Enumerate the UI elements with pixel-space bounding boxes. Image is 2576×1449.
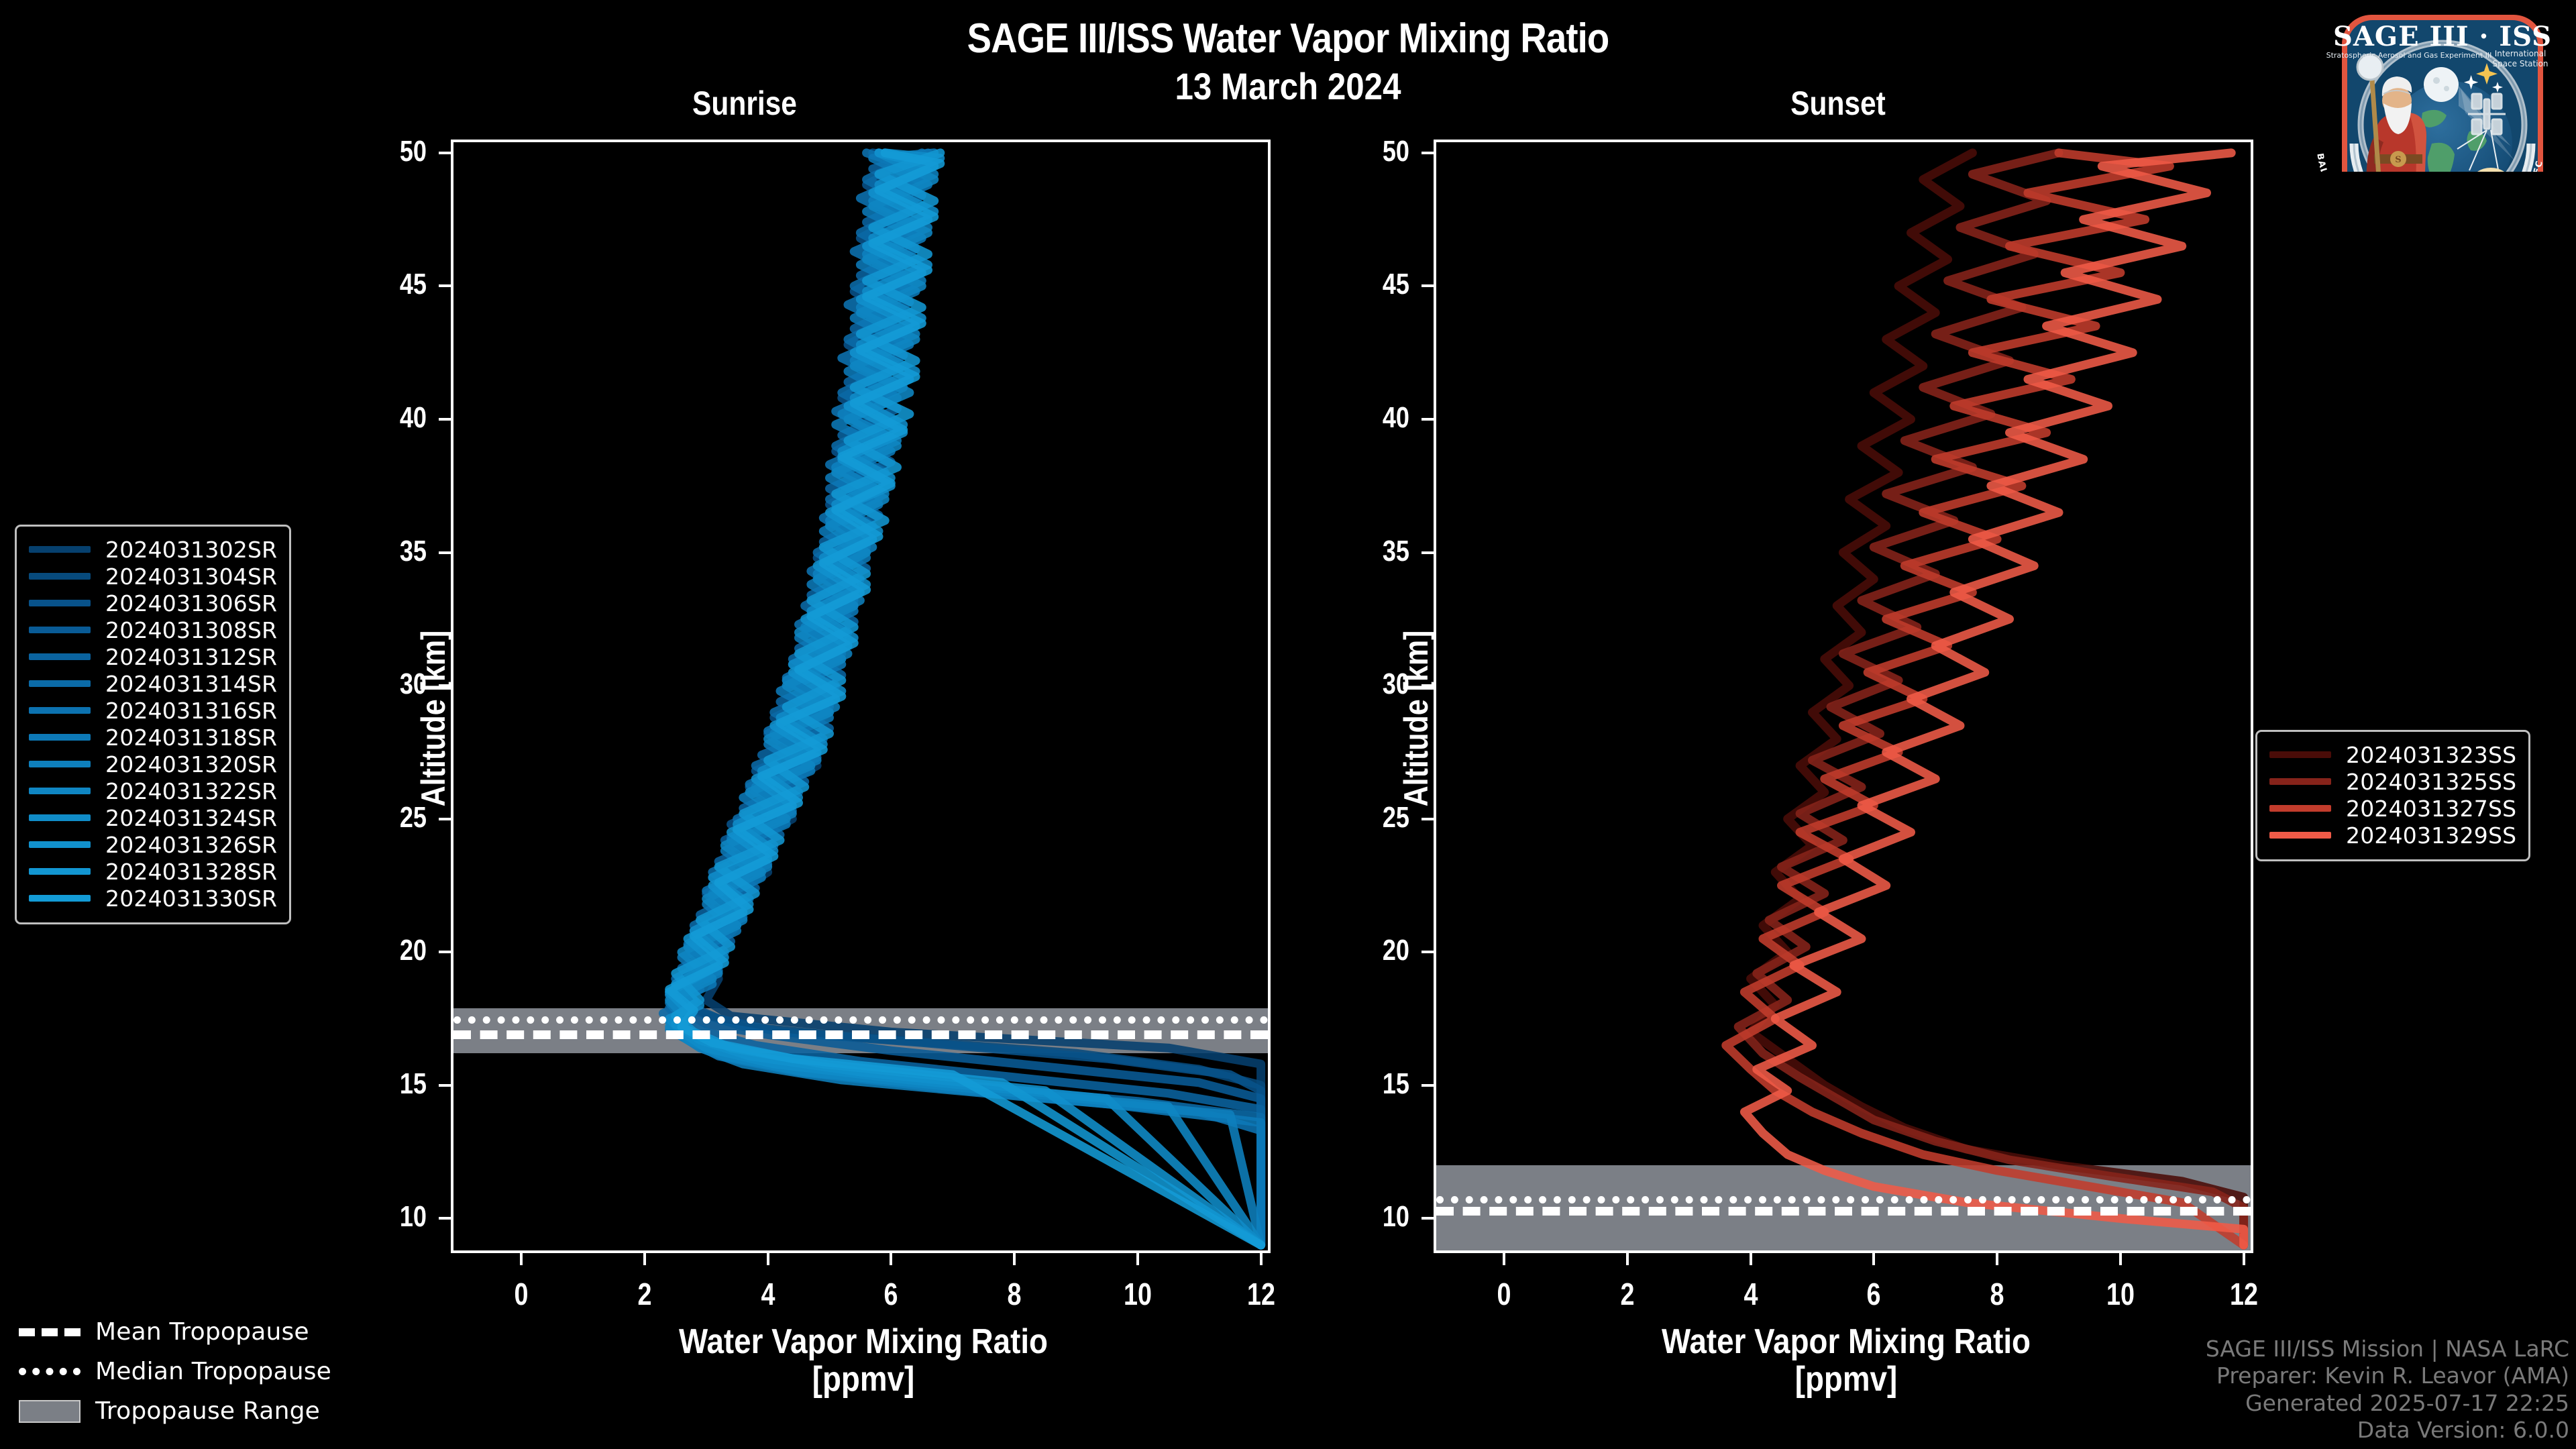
line-swatch-icon xyxy=(2269,778,2331,785)
sunrise-legend-label: 2024031316SR xyxy=(105,698,277,724)
sunrise-plot-axes: Altitude [km] Water Vapor Mixing Ratio [… xyxy=(451,140,1271,1253)
line-swatch-icon xyxy=(2269,805,2331,812)
sunrise-legend-label: 2024031314SR xyxy=(105,671,277,697)
sage3-iss-mission-patch: S BALL · NASA LANGLEY RESEARCH CENTER · … xyxy=(2290,5,2571,172)
patch-subtitle-left: Stratospheric Aerosol and Gas Experiment… xyxy=(2326,51,2492,60)
sunrise-legend-label: 2024031308SR xyxy=(105,617,277,643)
sunrise-x-axis-label: Water Vapor Mixing Ratio [ppmv] xyxy=(502,1323,1224,1398)
line-swatch-icon xyxy=(29,895,91,902)
y-axis-tick xyxy=(439,418,451,421)
sunrise-legend-item[interactable]: 2024031330SR xyxy=(29,885,277,912)
legend-label-mean: Mean Tropopause xyxy=(95,1318,309,1346)
x-axis-tick-label: 10 xyxy=(2071,1276,2170,1312)
sunrise-legend-label: 2024031306SR xyxy=(105,590,277,616)
sunrise-legend-item[interactable]: 2024031304SR xyxy=(29,563,277,590)
sunrise-legend-label: 2024031324SR xyxy=(105,805,277,831)
legend-label-range: Tropopause Range xyxy=(95,1397,320,1425)
profile-lines xyxy=(1436,142,2251,1250)
sunrise-legend-item[interactable]: 2024031312SR xyxy=(29,643,277,670)
page-title: SAGE III/ISS Water Vapor Mixing Ratio xyxy=(154,15,2421,62)
sunrise-legend: 2024031302SR2024031304SR2024031306SR2024… xyxy=(15,525,291,924)
sunrise-legend-label: 2024031302SR xyxy=(105,537,277,563)
line-swatch-icon xyxy=(29,546,91,553)
line-swatch-icon xyxy=(29,841,91,848)
line-swatch-icon xyxy=(29,734,91,741)
mean-tropopause-line xyxy=(453,1030,1268,1039)
y-axis-tick-label: 10 xyxy=(317,1202,427,1232)
sunrise-legend-label: 2024031330SR xyxy=(105,885,277,912)
y-axis-tick-label: 50 xyxy=(1299,137,1409,166)
line-swatch-icon xyxy=(29,627,91,633)
y-axis-tick xyxy=(1421,1084,1434,1087)
y-axis-tick xyxy=(1421,951,1434,953)
y-axis-tick xyxy=(1421,551,1434,554)
profile-line xyxy=(1738,153,2243,1245)
sunrise-legend-label: 2024031318SR xyxy=(105,724,277,751)
line-swatch-icon xyxy=(29,788,91,794)
y-axis-tick-label: 30 xyxy=(317,669,427,699)
line-swatch-icon xyxy=(29,707,91,714)
sunset-legend-label: 2024031329SS xyxy=(2346,822,2516,849)
y-axis-tick-label: 20 xyxy=(317,936,427,965)
sunrise-legend-item[interactable]: 2024031316SR xyxy=(29,697,277,724)
x-axis-tick-label: 4 xyxy=(718,1276,818,1312)
x-axis-tick xyxy=(520,1253,523,1265)
x-axis-tick-label: 12 xyxy=(1212,1276,1311,1312)
x-axis-tick-label: 8 xyxy=(1947,1276,2047,1312)
x-axis-tick-label: 10 xyxy=(1088,1276,1187,1312)
credits-generated: Generated 2025-07-17 22:25 xyxy=(2206,1390,2569,1417)
x-axis-tick xyxy=(890,1253,892,1265)
sunset-legend-item[interactable]: 2024031329SS xyxy=(2269,822,2516,849)
x-axis-tick xyxy=(1872,1253,1875,1265)
sunset-legend-item[interactable]: 2024031325SS xyxy=(2269,768,2516,795)
patch-subtitle-right-2: Space Station xyxy=(2492,59,2548,68)
y-axis-tick xyxy=(1421,152,1434,154)
x-axis-tick-label: 12 xyxy=(2194,1276,2294,1312)
line-swatch-icon xyxy=(29,868,91,875)
credits-block: SAGE III/ISS Mission | NASA LaRC Prepare… xyxy=(2206,1336,2569,1444)
sunrise-legend-item[interactable]: 2024031322SR xyxy=(29,777,277,804)
y-axis-tick xyxy=(1421,284,1434,287)
sunrise-legend-item[interactable]: 2024031318SR xyxy=(29,724,277,751)
y-axis-tick xyxy=(439,1084,451,1087)
x-axis-tick-label: 0 xyxy=(472,1276,571,1312)
y-axis-tick xyxy=(439,951,451,953)
sunrise-legend-label: 2024031304SR xyxy=(105,563,277,590)
sunrise-legend-item[interactable]: 2024031326SR xyxy=(29,831,277,858)
sunset-x-axis-label: Water Vapor Mixing Ratio [ppmv] xyxy=(1485,1323,2206,1398)
dashed-line-icon xyxy=(19,1328,80,1336)
y-axis-tick-label: 40 xyxy=(1299,403,1409,433)
line-swatch-icon xyxy=(29,761,91,767)
legend-item-mean-tropopause: Mean Tropopause xyxy=(19,1312,331,1352)
y-axis-tick-label: 45 xyxy=(317,270,427,299)
y-axis-tick-label: 25 xyxy=(317,803,427,833)
x-axis-tick xyxy=(1503,1253,1505,1265)
x-axis-tick-label: 8 xyxy=(965,1276,1064,1312)
line-swatch-icon xyxy=(29,573,91,580)
sunset-plot-axes: Altitude [km] Water Vapor Mixing Ratio [… xyxy=(1434,140,2253,1253)
y-axis-tick xyxy=(1421,684,1434,687)
x-axis-tick-label: 0 xyxy=(1454,1276,1554,1312)
sunset-legend-label: 2024031325SS xyxy=(2346,769,2516,795)
sunset-y-axis-label: Altitude [km] xyxy=(1397,545,1436,892)
sunrise-legend-item[interactable]: 2024031324SR xyxy=(29,804,277,831)
y-axis-tick-label: 15 xyxy=(317,1069,427,1099)
x-axis-tick xyxy=(1136,1253,1139,1265)
sunset-legend-label: 2024031327SS xyxy=(2346,796,2516,822)
y-axis-tick-label: 15 xyxy=(1299,1069,1409,1099)
y-axis-tick xyxy=(439,684,451,687)
y-axis-tick-label: 45 xyxy=(1299,270,1409,299)
y-axis-tick-label: 50 xyxy=(317,137,427,166)
line-swatch-icon xyxy=(29,814,91,821)
legend-item-tropopause-range: Tropopause Range xyxy=(19,1391,331,1431)
x-axis-tick-label: 6 xyxy=(1825,1276,1924,1312)
x-axis-tick xyxy=(767,1253,769,1265)
mean-tropopause-line xyxy=(1436,1207,2251,1216)
sunset-legend-item[interactable]: 2024031327SS xyxy=(2269,795,2516,822)
y-axis-tick xyxy=(1421,418,1434,421)
sunrise-legend-item[interactable]: 2024031306SR xyxy=(29,590,277,616)
y-axis-tick xyxy=(439,1217,451,1220)
sunrise-legend-label: 2024031320SR xyxy=(105,751,277,777)
credits-preparer: Preparer: Kevin R. Leavor (AMA) xyxy=(2206,1362,2569,1389)
x-axis-tick-label: 6 xyxy=(842,1276,941,1312)
sunset-legend-item[interactable]: 2024031323SS xyxy=(2269,741,2516,768)
legend-item-median-tropopause: Median Tropopause xyxy=(19,1352,331,1391)
line-swatch-icon xyxy=(29,653,91,660)
line-swatch-icon xyxy=(2269,751,2331,758)
filled-band-icon xyxy=(19,1400,80,1423)
sunrise-legend-label: 2024031322SR xyxy=(105,778,277,804)
y-axis-tick-label: 25 xyxy=(1299,803,1409,833)
sunset-panel-title: Sunset xyxy=(1735,84,1941,123)
sunrise-legend-label: 2024031312SR xyxy=(105,644,277,670)
y-axis-tick-label: 10 xyxy=(1299,1202,1409,1232)
x-axis-tick xyxy=(1626,1253,1629,1265)
sunrise-legend-item[interactable]: 2024031302SR xyxy=(29,536,277,563)
sunset-legend: 2024031323SS2024031325SS2024031327SS2024… xyxy=(2255,730,2530,861)
line-swatch-icon xyxy=(29,680,91,687)
credits-data-version: Data Version: 6.0.0 xyxy=(2206,1417,2569,1444)
line-swatch-icon xyxy=(2269,832,2331,839)
x-axis-tick xyxy=(1013,1253,1016,1265)
credits-mission: SAGE III/ISS Mission | NASA LaRC xyxy=(2206,1336,2569,1362)
sunrise-legend-label: 2024031328SR xyxy=(105,859,277,885)
patch-subtitle-right-1: International xyxy=(2495,49,2546,58)
sunrise-legend-item[interactable]: 2024031308SR xyxy=(29,616,277,643)
x-axis-tick-label: 2 xyxy=(595,1276,694,1312)
sunset-plot-area xyxy=(1436,142,2251,1250)
y-axis-tick xyxy=(439,284,451,287)
y-axis-tick xyxy=(439,551,451,554)
line-swatch-icon xyxy=(29,600,91,606)
sunrise-y-axis-label: Altitude [km] xyxy=(414,545,453,892)
y-axis-tick-label: 35 xyxy=(317,537,427,566)
y-axis-tick xyxy=(439,818,451,820)
tropopause-legend: Mean Tropopause Median Tropopause Tropop… xyxy=(19,1312,331,1431)
median-tropopause-line xyxy=(453,1016,1268,1024)
x-axis-tick xyxy=(643,1253,646,1265)
sunrise-legend-item[interactable]: 2024031328SR xyxy=(29,858,277,885)
profile-lines xyxy=(453,142,1268,1250)
x-axis-tick xyxy=(1750,1253,1752,1265)
x-axis-tick-label: 4 xyxy=(1701,1276,1801,1312)
legend-label-median: Median Tropopause xyxy=(95,1358,331,1385)
svg-text:S: S xyxy=(2395,155,2401,165)
x-axis-tick-label: 2 xyxy=(1578,1276,1677,1312)
median-tropopause-line xyxy=(1436,1196,2251,1203)
y-axis-tick xyxy=(1421,818,1434,820)
sunrise-legend-item[interactable]: 2024031320SR xyxy=(29,751,277,777)
sunrise-legend-item[interactable]: 2024031314SR xyxy=(29,670,277,697)
dotted-line-icon xyxy=(19,1368,80,1375)
y-axis-tick xyxy=(439,152,451,154)
x-axis-tick xyxy=(2119,1253,2122,1265)
sunrise-plot-area xyxy=(453,142,1268,1250)
y-axis-tick-label: 20 xyxy=(1299,936,1409,965)
x-axis-tick xyxy=(1260,1253,1263,1265)
date-title: 13 March 2024 xyxy=(154,64,2421,108)
sunrise-panel-title: Sunrise xyxy=(642,84,847,123)
y-axis-tick xyxy=(1421,1217,1434,1220)
x-axis-tick xyxy=(2243,1253,2245,1265)
y-axis-tick-label: 30 xyxy=(1299,669,1409,699)
y-axis-tick-label: 40 xyxy=(317,403,427,433)
y-axis-tick-label: 35 xyxy=(1299,537,1409,566)
sunset-legend-label: 2024031323SS xyxy=(2346,742,2516,768)
x-axis-tick xyxy=(1996,1253,1998,1265)
sunrise-legend-label: 2024031326SR xyxy=(105,832,277,858)
patch-title: SAGE III · ISS xyxy=(2333,21,2552,52)
